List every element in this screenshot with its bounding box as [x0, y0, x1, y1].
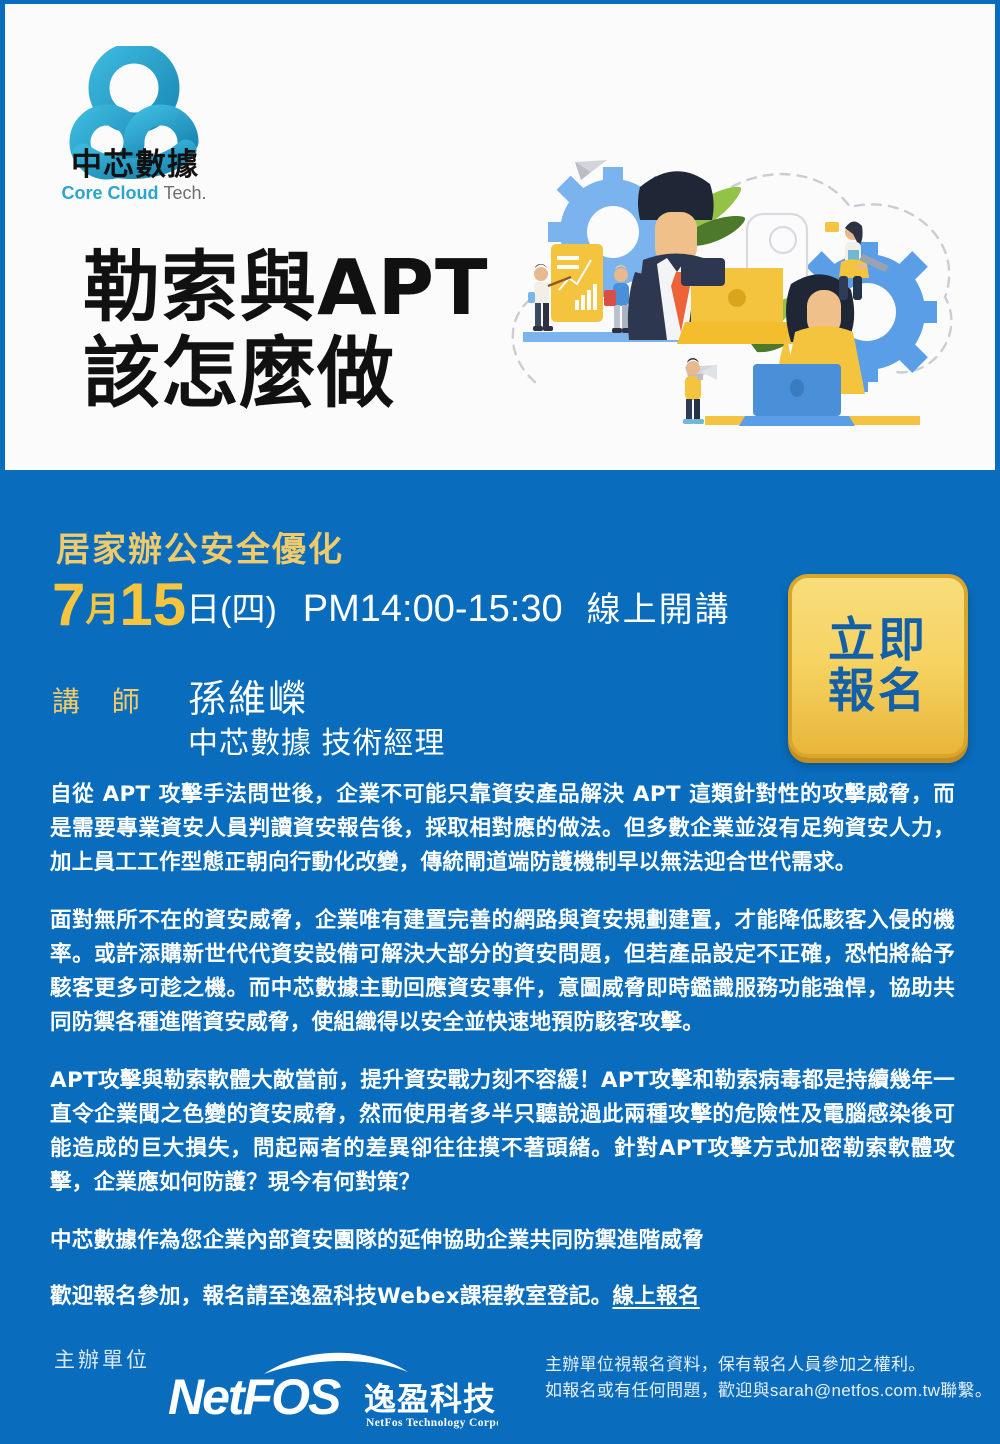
speaker-name: 孫維嶸 — [188, 668, 308, 723]
event-dateline: 7月15日(四)PM14:00-15:30線上開講 — [52, 570, 731, 639]
logo-en-tech: Tech. — [164, 183, 207, 203]
title-line-1: 勒索與APT — [83, 244, 489, 333]
event-day-number: 15 — [119, 571, 186, 638]
event-kicker: 居家辦公安全優化 — [56, 522, 344, 571]
event-weekday: (四) — [220, 591, 277, 629]
body-copy: 自從 APT 攻擊手法問世後，企業不可能只靠資安產品解決 APT 這類針對性的攻… — [50, 778, 955, 1338]
logo-english-name: Core Cloud Tech. — [53, 184, 215, 202]
event-day-char: 日 — [186, 591, 220, 629]
paragraph-2: 面對無所不在的資安威脅，企業唯有建置完善的網路與資安規劃建置，才能降低駭客入侵的… — [50, 904, 955, 1040]
netfos-logo: NetFOS 逸盈科技 NetFos Technology Corporatio… — [168, 1348, 498, 1432]
svg-text:NetFos Technology Corporation: NetFos Technology Corporation — [366, 1417, 498, 1429]
poster-title: 勒索與APT 該怎麼做 — [83, 246, 489, 418]
svg-text:NetFOS: NetFOS — [168, 1369, 341, 1425]
event-mode: 線上開講 — [587, 591, 731, 629]
disclaimer-text: 主辦單位視報名資料，保有報名人員參加之權利。 如報名或有任何問題，歡迎與sara… — [545, 1352, 975, 1405]
paragraph-1: 自從 APT 攻擊手法問世後，企業不可能只靠資安產品解決 APT 這類針對性的攻… — [50, 778, 955, 880]
header-section: 中芯數據 Core Cloud Tech. — [5, 4, 995, 470]
footer-section: 主辦單位 NetFOS 逸盈科技 NetFos Technology Corpo… — [0, 1330, 1000, 1444]
event-month-char: 月 — [85, 591, 119, 629]
event-time: PM14:00-15:30 — [303, 588, 563, 630]
online-registration-link[interactable]: 線上報名 — [612, 1284, 699, 1309]
event-month-number: 7 — [52, 571, 85, 638]
speaker-label: 講 師 — [52, 680, 152, 720]
paragraph-5: 歡迎報名參加，報名請至逸盈科技Webex課程教室登記。線上報名 — [50, 1280, 955, 1314]
cta-line-2: 報名 — [828, 666, 928, 717]
logo-chinese-name: 中芯數據 — [55, 150, 215, 181]
disclaimer-line-2: 如報名或有任何問題，歡迎與sarah@netfos.com.tw聯繫。 — [545, 1378, 975, 1404]
registration-sentence: 歡迎報名參加，報名請至逸盈科技Webex課程教室登記。 — [50, 1284, 612, 1309]
register-now-button[interactable]: 立即 報名 — [788, 574, 968, 758]
title-line-2: 該怎麼做 — [83, 332, 489, 418]
disclaimer-line-1: 主辦單位視報名資料，保有報名人員參加之權利。 — [545, 1352, 975, 1378]
svg-text:逸盈科技: 逸盈科技 — [364, 1380, 496, 1418]
poster-root: 中芯數據 Core Cloud Tech. — [0, 0, 1000, 1444]
speaker-role: 中芯數據 技術經理 — [188, 718, 445, 762]
paragraph-4: 中芯數據作為您企業內部資安團隊的延伸協助企業共同防禦進階威脅 — [50, 1224, 955, 1258]
hero-illustration — [495, 132, 995, 470]
cta-line-1: 立即 — [828, 615, 928, 666]
logo-en-cloud: Cloud — [107, 183, 158, 203]
paragraph-3: APT攻擊與勒索軟體大敵當前，提升資安戰力刻不容緩！APT攻擊和勒索病毒都是持續… — [50, 1064, 955, 1200]
organizer-label: 主辦單位 — [54, 1344, 150, 1374]
logo-en-core: Core — [61, 183, 102, 203]
body-section: 居家辦公安全優化 7月15日(四)PM14:00-15:30線上開講 講 師 孫… — [0, 470, 1000, 1444]
